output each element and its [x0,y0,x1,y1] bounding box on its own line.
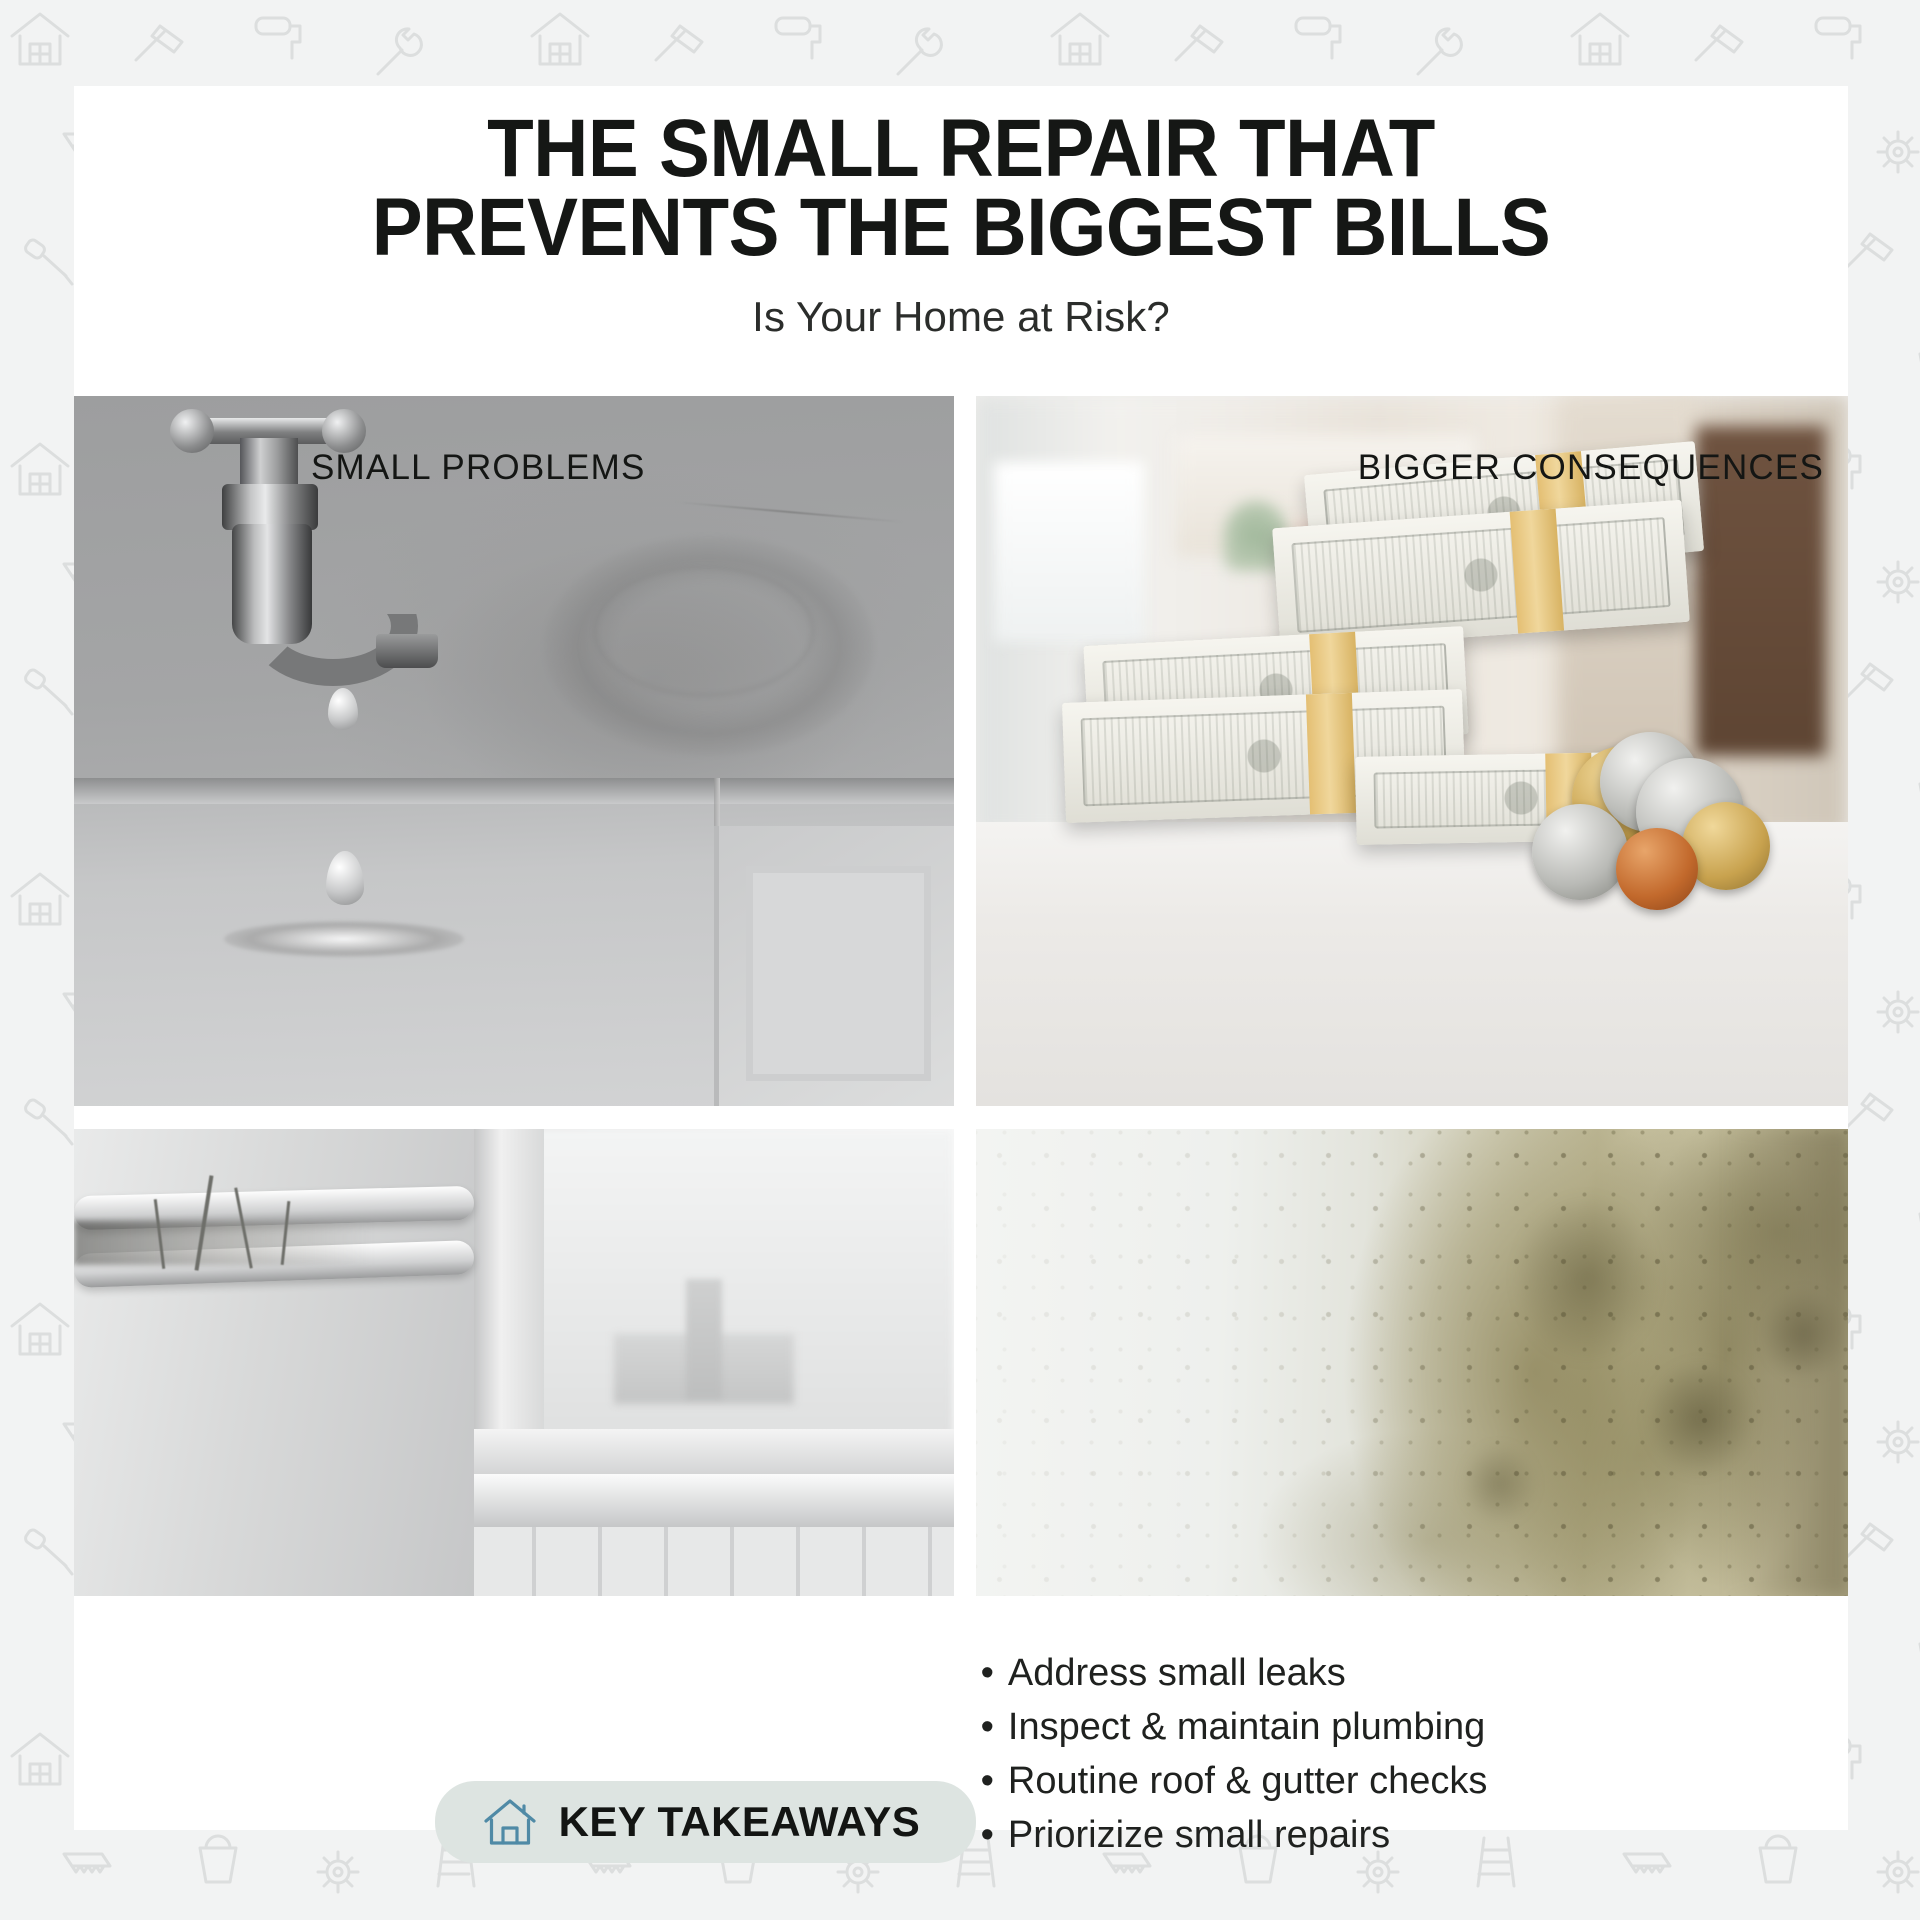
bullet-marker: • [981,1760,994,1802]
key-takeaways-list: •Address small leaks •Inspect & maintain… [981,1647,1488,1863]
bullet-marker: • [981,1814,994,1856]
water-puddle [224,921,464,957]
window-sill [404,1474,954,1529]
header: THE SMALL REPAIR THAT PREVENTS THE BIGGE… [74,86,1848,341]
key-takeaways-section: KEY TAKEAWAYS •Address small leaks •Insp… [74,1621,1848,1863]
ceiling-crack [674,501,903,523]
faucet [140,396,440,726]
bullet-marker: • [981,1706,994,1748]
list-item-label: Priorizize small repairs [1008,1814,1390,1856]
page-subtitle: Is Your Home at Risk? [74,293,1848,341]
coin [1532,804,1628,900]
faucet-handle-left [170,409,214,453]
window-view-tower [686,1279,722,1399]
panel-leaking-faucet: SMALL PROBLEMS [74,396,954,1106]
panel-label-small-problems: SMALL PROBLEMS [311,448,646,488]
list-item: •Routine roof & gutter checks [981,1755,1488,1809]
key-takeaways-heading: KEY TAKEAWAYS [559,1798,921,1846]
image-grid: SMALL PROBLEMS [74,396,1848,1596]
faucet-handle-right [322,409,366,453]
bullet-marker: • [981,1652,994,1694]
list-item-label: Routine roof & gutter checks [1008,1760,1487,1802]
house-icon [483,1797,537,1847]
leaking-faucet-image [74,396,954,1106]
panel-mold-wall [976,1129,1848,1596]
tiled-wall [404,1527,954,1596]
faucet-tip [376,634,438,668]
panel-label-bigger-consequences: BIGGER CONSEQUENCES [1358,448,1824,488]
infographic-card: THE SMALL REPAIR THAT PREVENTS THE BIGGE… [74,86,1848,1830]
painted-trim [74,1129,474,1596]
list-item: •Address small leaks [981,1647,1488,1701]
cracked-window-trim-image [74,1129,954,1596]
list-item: •Priorizize small repairs [981,1809,1488,1863]
list-item: •Inspect & maintain plumbing [981,1701,1488,1755]
money-stacks-image [976,396,1848,1106]
coin [1616,828,1698,910]
wall-panel-inset [746,866,931,1081]
panel-cracked-window-trim [74,1129,954,1596]
mold-wall-image [976,1129,1848,1596]
trim-grime [74,1221,474,1265]
faucet-stem [240,438,298,490]
page-title: THE SMALL REPAIR THAT PREVENTS THE BIGGE… [136,110,1786,267]
panel-money-stacks: BIGGER CONSEQUENCES [976,396,1848,1106]
kitchen-window [994,462,1144,642]
key-takeaways-badge: KEY TAKEAWAYS [435,1781,977,1863]
mold-speckle-texture [976,1129,1848,1596]
infographic-page: THE SMALL REPAIR THAT PREVENTS THE BIGGE… [0,0,1920,1920]
list-item-label: Address small leaks [1008,1652,1346,1694]
list-item-label: Inspect & maintain plumbing [1008,1706,1485,1748]
ceiling-stain-ring [594,566,814,696]
mold-wall-shadow-edge [1728,1129,1848,1596]
